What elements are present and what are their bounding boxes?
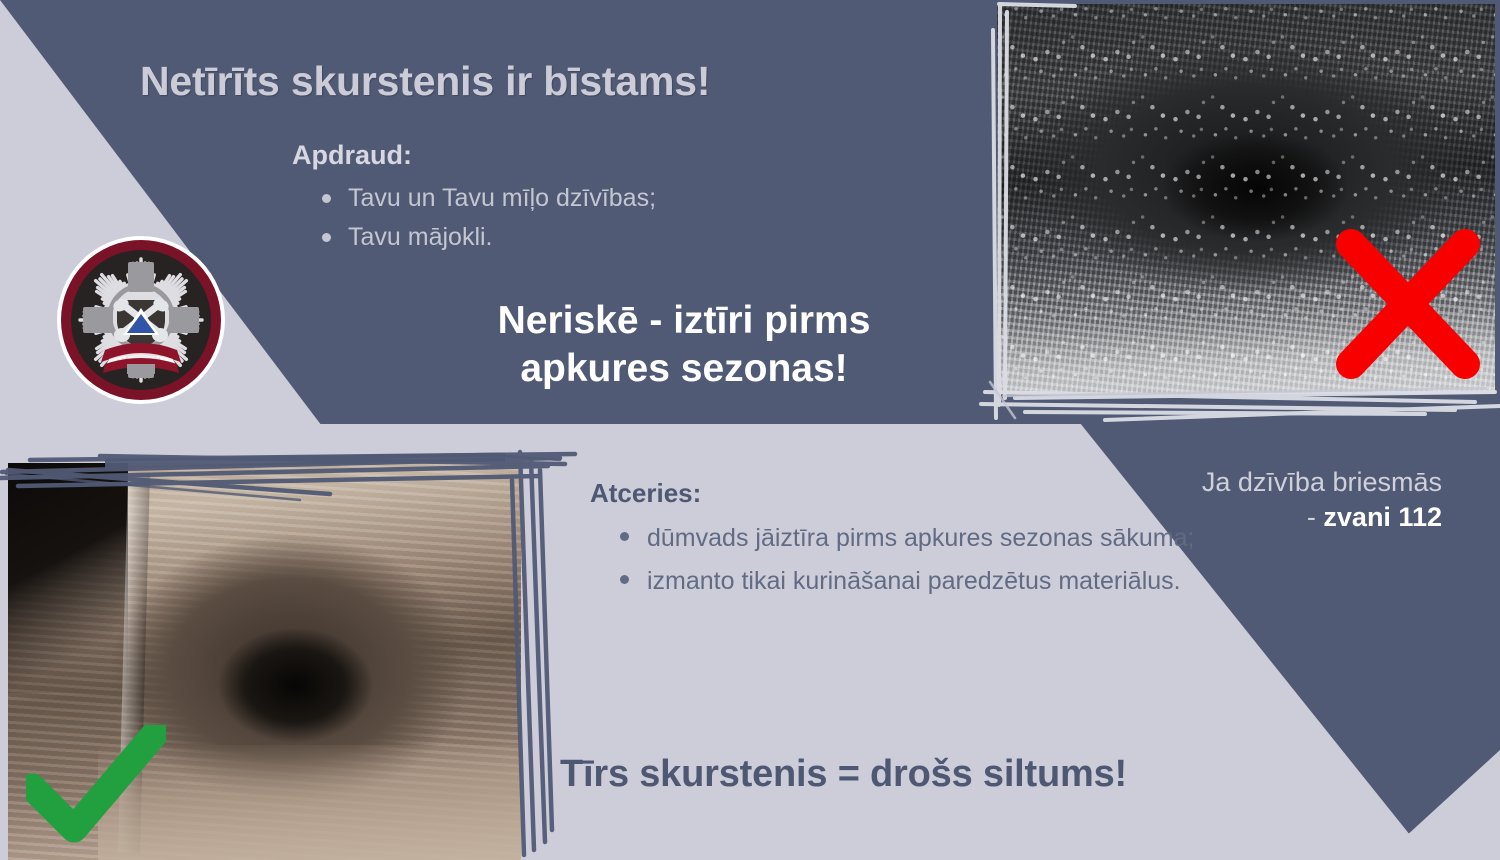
green-check-icon — [26, 725, 166, 843]
emergency-line2: - zvani 112 — [1092, 500, 1442, 535]
list-item: Tavu mājokli. — [318, 222, 878, 253]
cta-top-line1: Neriskē - iztīri pirms — [406, 297, 962, 345]
bullet-dot-icon — [322, 233, 331, 242]
emergency-callout: Ja dzīvība briesmās - zvani 112 — [1092, 465, 1442, 534]
remember-label: Atceries: — [590, 478, 701, 509]
bullet-dot-icon — [322, 194, 331, 203]
emergency-line1: Ja dzīvība briesmās — [1092, 465, 1442, 500]
cta-top-line2: apkures sezonas! — [406, 345, 962, 393]
emblem-ribbon — [101, 343, 181, 374]
bullet-dot-icon — [620, 532, 629, 541]
red-cross-icon — [1333, 228, 1483, 380]
list-item-label: izmanto tikai kurināšanai paredzētus mat… — [647, 567, 1181, 595]
list-item: izmanto tikai kurināšanai paredzētus mat… — [614, 563, 1214, 600]
emergency-dash: - — [1307, 502, 1324, 532]
vugd-fire-service-emblem — [55, 234, 227, 406]
call-to-action-top: Neriskē - iztīri pirms apkures sezonas! — [406, 297, 962, 392]
danger-label: Apdraud: — [292, 140, 412, 171]
list-item-label: Tavu mājokli. — [348, 223, 493, 251]
list-item-label: Tavu un Tavu mīļo dzīvības; — [348, 184, 656, 212]
page-title: Netīrīts skurstenis ir bīstams! — [140, 60, 930, 103]
list-item: Tavu un Tavu mīļo dzīvības; — [318, 183, 878, 214]
clean-photo-dark-corner — [8, 463, 128, 693]
bullet-dot-icon — [620, 575, 629, 584]
call-to-action-bottom: Tīrs skurstenis = drošs siltums! — [560, 753, 1390, 796]
emergency-number: zvani 112 — [1323, 502, 1442, 532]
poster-canvas: Netīrīts skurstenis ir bīstams! Apdraud:… — [0, 0, 1500, 860]
danger-list: Tavu un Tavu mīļo dzīvības; Tavu mājokli… — [318, 183, 878, 262]
